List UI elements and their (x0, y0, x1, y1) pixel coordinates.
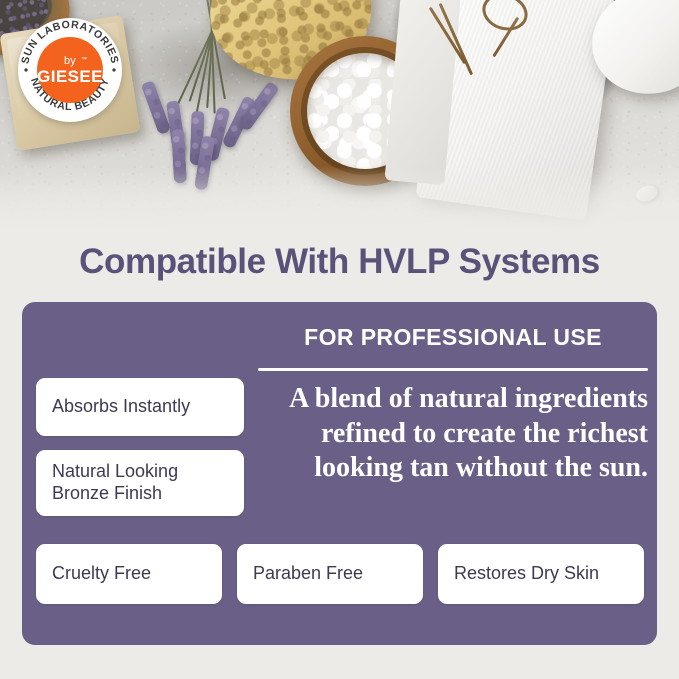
feature-pill-label: Restores Dry Skin (454, 563, 599, 585)
photo-bottom-fade (0, 166, 679, 228)
panel-title: FOR PROFESSIONAL USE (258, 324, 648, 351)
page-title: Compatible With HVLP Systems (0, 242, 679, 282)
logo-by-label: by (64, 56, 76, 67)
infographic-canvas: SUN LABORATORIES NATURAL BEAUTY by GIESE… (0, 0, 679, 679)
feature-pill-label: Natural Looking Bronze Finish (52, 461, 228, 505)
feature-pill-absorbs-instantly[interactable]: Absorbs Instantly (36, 378, 244, 436)
feature-pill-label: Cruelty Free (52, 563, 151, 585)
product-description: A blend of natural ingredients refined t… (236, 382, 648, 486)
logo-brand-name: GIESEE (37, 68, 103, 85)
brand-logo-badge: SUN LABORATORIES NATURAL BEAUTY by GIESE… (18, 18, 122, 122)
feature-pill-label: Paraben Free (253, 563, 363, 585)
logo-trademark-symbol: ™ (81, 57, 87, 63)
panel-divider (258, 368, 648, 371)
feature-pill-cruelty-free[interactable]: Cruelty Free (36, 544, 222, 604)
feature-pill-natural-looking-bronze-finish[interactable]: Natural Looking Bronze Finish (36, 450, 244, 516)
features-panel: FOR PROFESSIONAL USE A blend of natural … (22, 302, 657, 645)
feature-pill-label: Absorbs Instantly (52, 396, 190, 418)
logo-orange-disc: by GIESEE ™ (37, 37, 103, 103)
feature-pill-paraben-free[interactable]: Paraben Free (237, 544, 423, 604)
feature-pill-restores-dry-skin[interactable]: Restores Dry Skin (438, 544, 644, 604)
